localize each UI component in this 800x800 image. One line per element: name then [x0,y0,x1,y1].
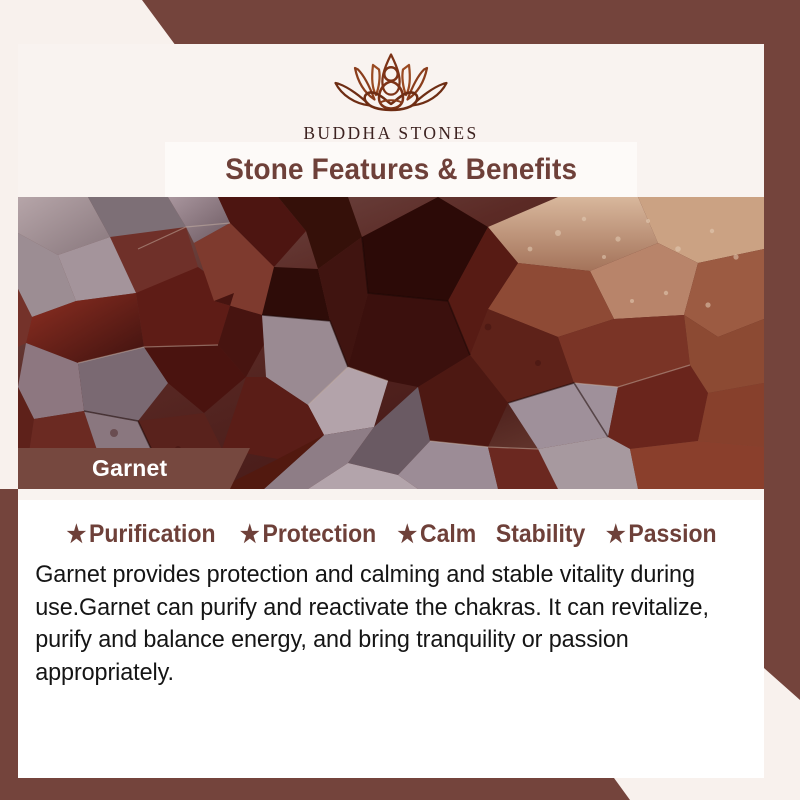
brand-logo-block: BUDDHA STONES [18,44,764,144]
stone-description-text: Garnet provides protection and calming a… [18,549,730,689]
benefit-item-calm: ★Calm [398,520,477,549]
benefit-label: Calm [420,520,476,549]
benefit-label: Protection [263,520,377,549]
stone-name: Garnet [18,455,167,482]
poster-card: BUDDHA STONES [18,44,764,778]
benefit-item-purification: ★Purification [67,520,216,549]
frame-left-bar [0,489,18,800]
benefits-list: ★Purification ★Protection ★Calm Stabilit… [18,500,764,549]
benefit-item-protection: ★Protection [240,520,376,549]
benefit-label: Stability [496,520,585,549]
stone-description-section: ★Purification ★Protection ★Calm Stabilit… [18,500,764,778]
lotus-meditation-figure-icon [311,50,471,122]
page-title: Stone Features & Benefits [225,153,577,187]
product-info-poster: BUDDHA STONES [0,0,800,800]
benefit-item-passion: ★Passion [606,520,717,549]
star-icon: ★ [67,523,87,547]
section-title-banner: Stone Features & Benefits [165,142,637,197]
brand-name: BUDDHA STONES [303,123,478,144]
star-icon: ★ [398,523,418,547]
stone-photo [18,197,764,489]
frame-top-bar [0,0,800,46]
stone-name-banner: Garnet [18,448,250,489]
star-icon: ★ [240,523,260,547]
benefit-label: Purification [89,520,216,549]
star-icon: ★ [606,523,626,547]
benefit-item-stability: Stability [496,520,585,549]
benefit-label: Passion [629,520,717,549]
